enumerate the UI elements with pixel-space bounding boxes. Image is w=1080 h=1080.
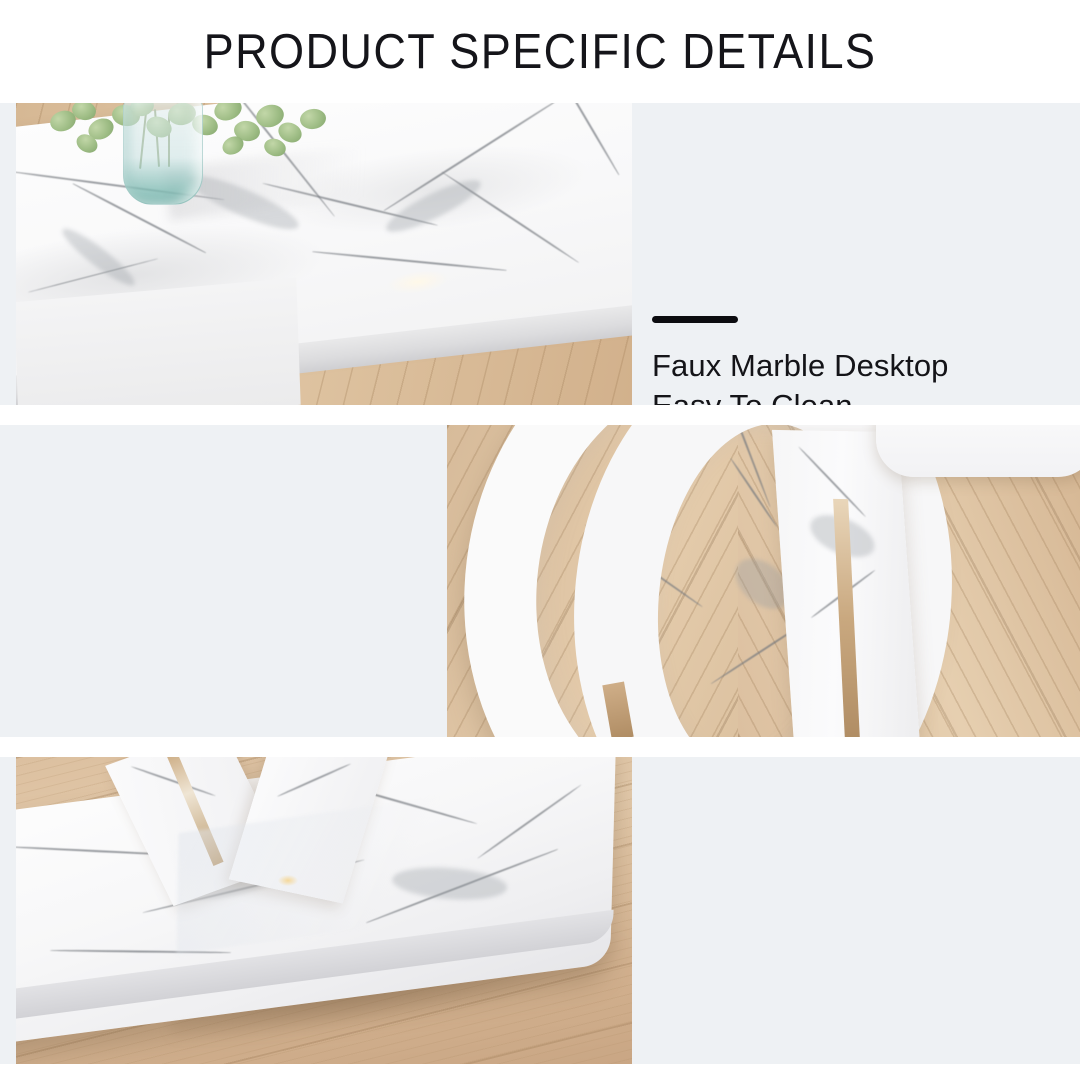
product-photo-faux-marble-desktop: [16, 103, 632, 405]
warm-light-spot: [278, 875, 298, 886]
caption-text: Faux Marble Desktop Easy To Clean: [652, 346, 949, 405]
tabletop-underside: [876, 425, 1080, 477]
product-photo-mdf-base: [16, 757, 632, 1064]
product-photo-strong-support-leg: [447, 425, 1080, 737]
page-title: PRODUCT SPECIFIC DETAILS: [43, 23, 1037, 81]
detail-panel-faux-marble-desktop: Faux Marble Desktop Easy To Clean: [0, 103, 1080, 405]
glass-vase: [123, 103, 203, 205]
product-details-infographic: PRODUCT SPECIFIC DETAILS: [0, 0, 1080, 1080]
caption-block-faux-marble-desktop: Faux Marble Desktop Easy To Clean: [652, 316, 949, 405]
dash-marker-icon: [652, 316, 738, 323]
detail-panel-mdf-base: MDF Base Stable Support: [0, 757, 1080, 1064]
detail-panel-strong-support-leg: Strong Support Leg: [0, 425, 1080, 737]
